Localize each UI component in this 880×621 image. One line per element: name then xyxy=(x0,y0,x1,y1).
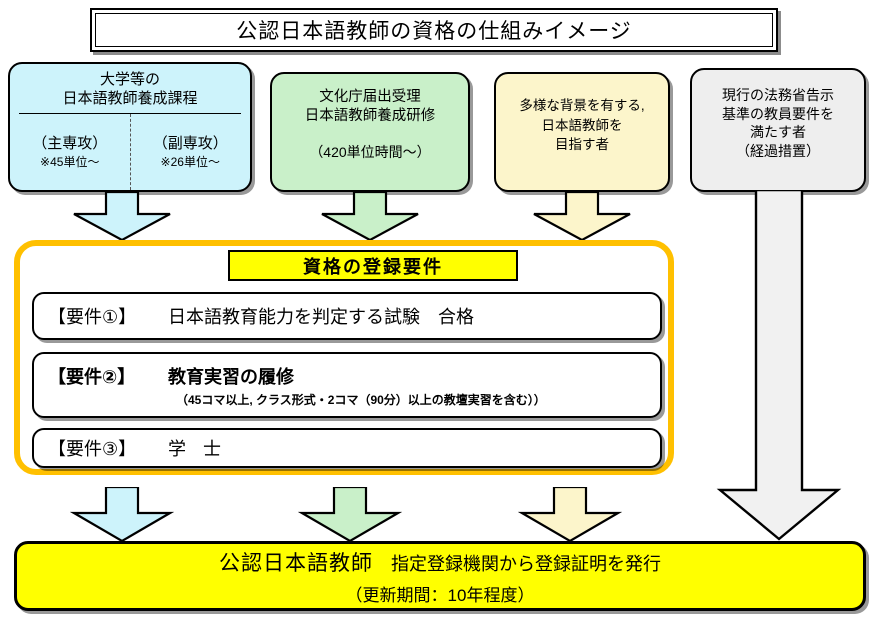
result-period-text: （更新期間：10年程度） xyxy=(346,581,535,606)
requirement-2-note: （45コマ以上, クラス形式・2コマ（90分）以上の教壇実習を含む）） xyxy=(176,391,660,408)
result-main-text: 公認日本語教師 xyxy=(219,552,373,575)
requirements-banner-text: 資格の登録要件 xyxy=(303,253,443,279)
requirement-1-line: 【要件①】 日本語教育能力を判定する試験 合格 xyxy=(48,303,660,329)
source-box-current-title: 現行の法務省告示 基準の教員要件を 満たす者 （経過措置） xyxy=(718,70,838,163)
source-box-university[interactable]: 大学等の 日本語教師養成課程 （主専攻） ※45単位～ （副専攻） ※26単位～ xyxy=(8,62,252,192)
result-sub-text: 指定登録機関から登録証明を発行 xyxy=(391,554,661,574)
result-line-main: 公認日本語教師指定登録機関から登録証明を発行 xyxy=(219,547,661,577)
university-major-column: （主専攻） ※45単位～ xyxy=(10,114,131,190)
page-title-text: 公認日本語教師の資格の仕組みイメージ xyxy=(236,15,632,45)
source-box-university-title: 大学等の 日本語教師養成課程 xyxy=(58,64,201,111)
source-box-training[interactable]: 文化庁届出受理 日本語教師養成研修 （420単位時間～） xyxy=(270,72,470,192)
university-minor-label: （副専攻） xyxy=(153,135,228,153)
down-arrow-university-bottom xyxy=(70,487,174,543)
source-box-diverse[interactable]: 多様な背景を有する, 日本語教師を 目指す者 xyxy=(494,72,670,192)
page-title: 公認日本語教師の資格の仕組みイメージ xyxy=(90,8,778,52)
down-arrow-training-top xyxy=(318,192,422,242)
requirement-1-body: 日本語教育能力を判定する試験 合格 xyxy=(168,303,474,329)
page-title-inner-border: 公認日本語教師の資格の仕組みイメージ xyxy=(95,13,773,47)
requirement-1-tag: 【要件①】 xyxy=(48,303,158,329)
university-minor-credits: ※26単位～ xyxy=(161,153,220,171)
requirement-2-line: 【要件②】 教育実習の履修 xyxy=(48,363,660,389)
requirements-banner: 資格の登録要件 xyxy=(228,250,518,281)
requirement-3-tag: 【要件③】 xyxy=(48,435,158,461)
source-box-training-title: 文化庁届出受理 日本語教師養成研修 xyxy=(301,74,440,129)
requirement-3-body: 学 士 xyxy=(168,435,227,461)
requirement-item-3[interactable]: 【要件③】 学 士 xyxy=(32,428,662,468)
requirement-3-line: 【要件③】 学 士 xyxy=(48,435,660,461)
university-major-label: （主専攻） xyxy=(32,135,107,153)
requirement-2-body: 教育実習の履修 xyxy=(168,363,294,389)
source-box-training-sub: （420単位時間～） xyxy=(309,129,430,161)
diagram-canvas: 公認日本語教師の資格の仕組みイメージ 大学等の 日本語教師養成課程 （主専攻） … xyxy=(0,0,880,621)
result-box[interactable]: 公認日本語教師指定登録機関から登録証明を発行 （更新期間：10年程度） xyxy=(14,541,866,611)
university-minor-column: （副専攻） ※26単位～ xyxy=(131,114,251,190)
requirement-2-tag: 【要件②】 xyxy=(48,363,158,389)
down-arrow-university-top xyxy=(70,192,174,242)
down-arrow-current-bypass xyxy=(712,190,844,542)
requirement-item-2[interactable]: 【要件②】 教育実習の履修 （45コマ以上, クラス形式・2コマ（90分）以上の… xyxy=(32,352,662,418)
down-arrow-diverse-bottom xyxy=(518,487,622,543)
requirement-item-1[interactable]: 【要件①】 日本語教育能力を判定する試験 合格 xyxy=(32,292,662,340)
down-arrow-diverse-top xyxy=(530,192,634,242)
source-box-current[interactable]: 現行の法務省告示 基準の教員要件を 満たす者 （経過措置） xyxy=(690,68,866,192)
university-major-credits: ※45単位～ xyxy=(40,153,99,171)
down-arrow-training-bottom xyxy=(298,487,402,543)
source-box-diverse-title: 多様な背景を有する, 日本語教師を 目指す者 xyxy=(515,74,648,158)
university-major-columns: （主専攻） ※45単位～ （副専攻） ※26単位～ xyxy=(10,114,250,190)
